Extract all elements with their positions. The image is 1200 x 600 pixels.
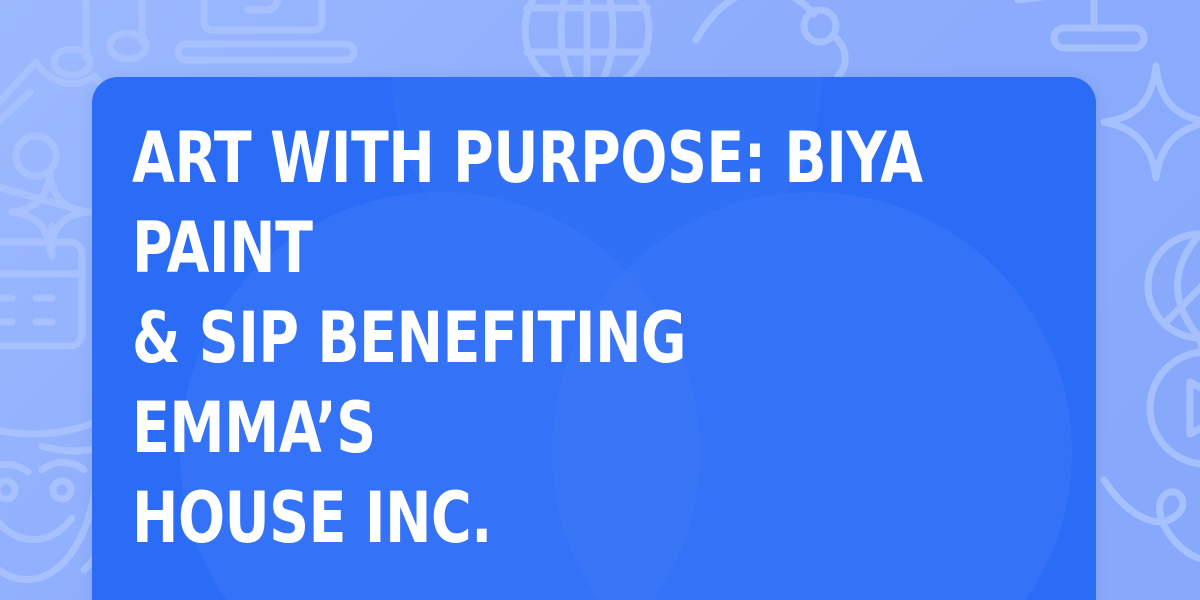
play-circle-icon [1144,346,1200,496]
sparkle-icon [1098,56,1200,186]
flag-icon [1008,0,1188,86]
event-title: ART WITH PURPOSE: BIYA PAINT & SIP BENEF… [132,113,936,563]
confetti-icon [690,0,860,80]
laptop-icon [176,0,356,74]
streamer-icon [1098,468,1200,600]
event-card: ART WITH PURPOSE: BIYA PAINT & SIP BENEF… [92,77,1096,600]
event-card-content: ART WITH PURPOSE: BIYA PAINT & SIP BENEF… [92,77,1096,600]
balloon-icon [1134,228,1200,398]
calendar-icon [0,216,102,366]
sparkle-icon [6,166,96,256]
event-banner: ART WITH PURPOSE: BIYA PAINT & SIP BENEF… [0,0,1200,600]
